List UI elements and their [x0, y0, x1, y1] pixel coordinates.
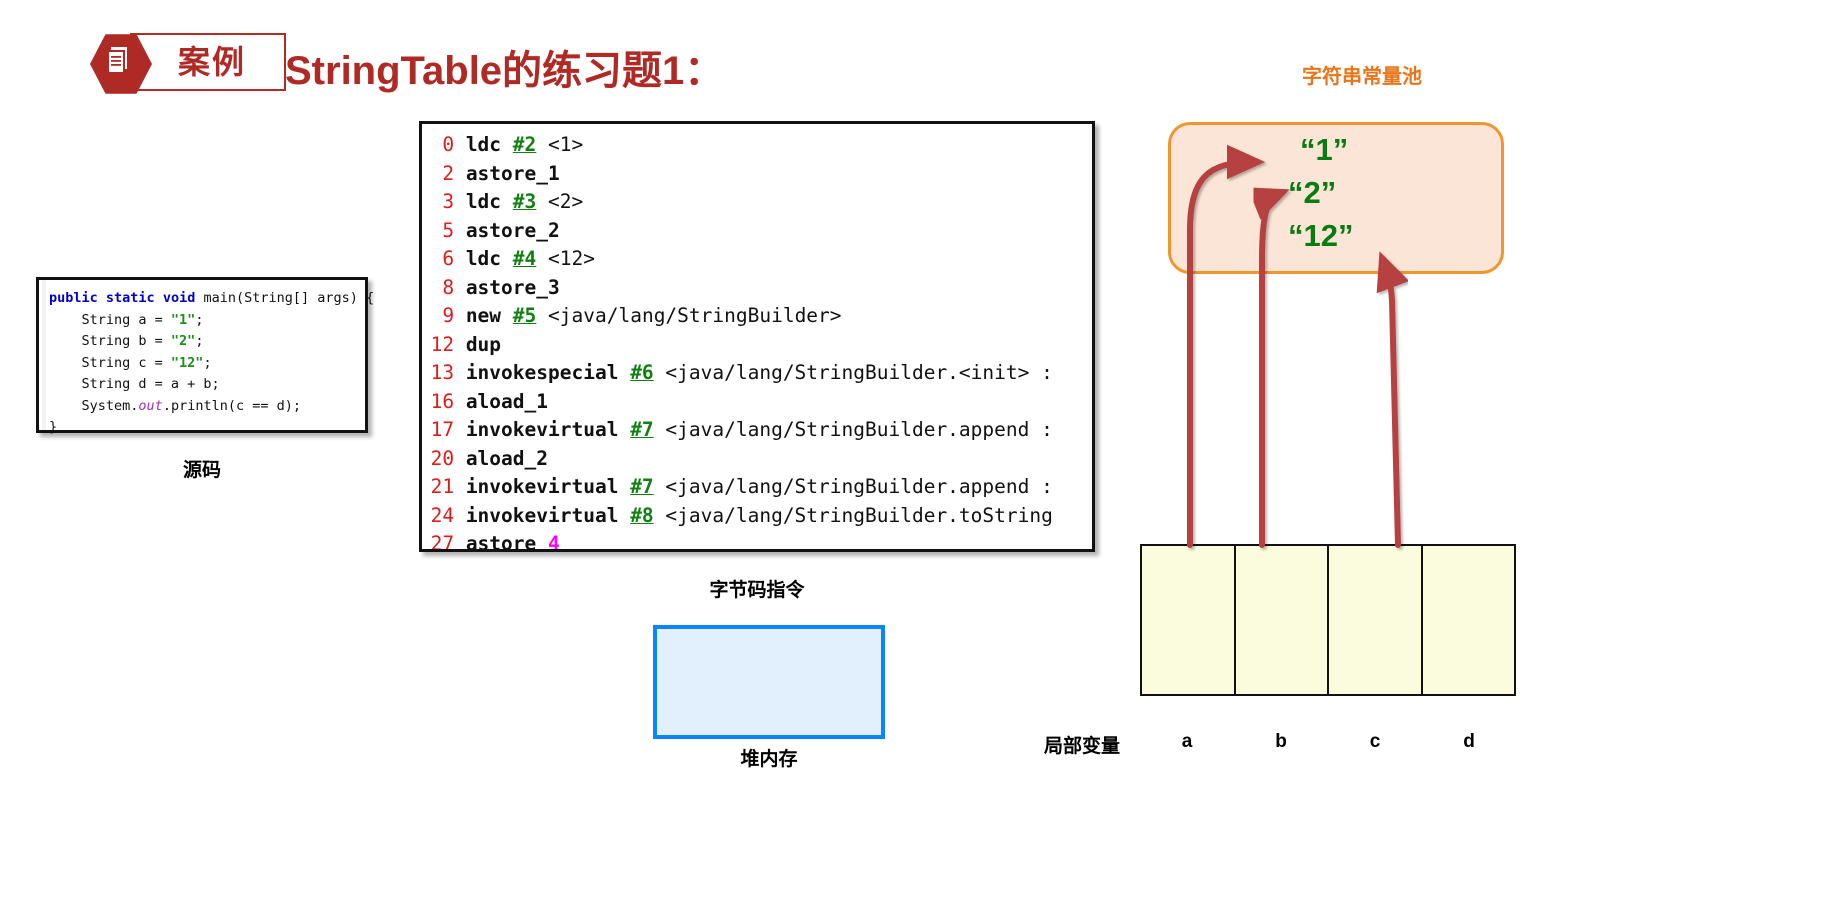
bytecode-line: 0 ldc #2 <1>: [430, 131, 1053, 160]
bytecode-line: 20 aload_2: [430, 445, 1053, 474]
heap-memory-box: [653, 625, 885, 739]
bytecode-offset: 3: [430, 188, 454, 217]
constant-pool-ref[interactable]: #6: [630, 361, 653, 384]
bytecode-offset: 8: [430, 274, 454, 303]
source-token: ;: [195, 312, 203, 328]
bytecode-offset: 20: [430, 445, 454, 474]
bytecode-opcode: dup: [466, 333, 501, 356]
source-token: out: [138, 398, 162, 414]
local-var-slot-c: [1329, 546, 1423, 694]
bytecode-line: 16 aload_1: [430, 388, 1053, 417]
bytecode-offset: 21: [430, 473, 454, 502]
bytecode-line: 13 invokespecial #6 <java/lang/StringBui…: [430, 359, 1053, 388]
source-code-line: String a = "1";: [49, 310, 361, 332]
bytecode-argument: <java/lang/StringBuilder.toString: [665, 504, 1052, 527]
bytecode-offset: 9: [430, 302, 454, 331]
local-var-slot-b: [1236, 546, 1330, 694]
source-token: main(String[] args) {: [195, 290, 374, 306]
bytecode-offset: 24: [430, 502, 454, 531]
local-variable-table: [1140, 544, 1516, 696]
bytecode-opcode: invokevirtual: [466, 418, 619, 441]
constant-pool-ref[interactable]: #2: [513, 133, 536, 156]
case-badge: 案例: [90, 33, 286, 93]
bytecode-argument: <java/lang/StringBuilder>: [548, 304, 842, 327]
bytecode-line: 27 astore 4: [430, 530, 1053, 552]
bytecode-opcode: astore: [466, 532, 536, 552]
bytecode-offset: 16: [430, 388, 454, 417]
pool-string-0: “1”: [1300, 132, 1348, 168]
bytecode-opcode: invokevirtual: [466, 475, 619, 498]
bytecode-offset: 0: [430, 131, 454, 160]
string-pool-title: 字符串常量池: [1192, 60, 1532, 89]
bytecode-opcode: aload_2: [466, 447, 548, 470]
bytecode-opcode: invokespecial: [466, 361, 619, 384]
bytecode-line: 3 ldc #3 <2>: [430, 188, 1053, 217]
bytecode-list: 0 ldc #2 <1>2 astore_13 ldc #3 <2>5 asto…: [430, 131, 1053, 552]
pool-string-2: “12”: [1288, 218, 1353, 254]
badge-label: 案例: [152, 39, 272, 85]
bytecode-argument: <java/lang/StringBuilder.append :: [665, 475, 1052, 498]
bytecode-offset: 27: [430, 530, 454, 552]
bytecode-line: 6 ldc #4 <12>: [430, 245, 1053, 274]
bytecode-line: 8 astore_3: [430, 274, 1053, 303]
bytecode-argument: <java/lang/StringBuilder.<init> :: [665, 361, 1052, 384]
local-var-label-b: b: [1234, 731, 1328, 753]
constant-pool-ref[interactable]: #7: [630, 418, 653, 441]
arrow-c-to-string-12: [1382, 258, 1398, 545]
bytecode-argument: <1>: [548, 133, 583, 156]
source-code-caption: 源码: [36, 455, 368, 482]
bytecode-line: 9 new #5 <java/lang/StringBuilder>: [430, 302, 1053, 331]
source-token: System.: [82, 398, 139, 414]
constant-pool-ref[interactable]: #8: [630, 504, 653, 527]
source-token: "2": [171, 333, 195, 349]
constant-pool-ref[interactable]: #7: [630, 475, 653, 498]
source-code-panel: public static void main(String[] args) {…: [36, 277, 368, 433]
bytecode-offset: 2: [430, 160, 454, 189]
bytecode-line: 2 astore_1: [430, 160, 1053, 189]
source-token: "1": [171, 312, 195, 328]
bytecode-opcode: ldc: [466, 247, 501, 270]
source-token: ;: [203, 355, 211, 371]
local-variable-labels: a b c d: [1140, 731, 1516, 753]
local-variable-caption: 局部变量: [1000, 731, 1120, 758]
source-token: void: [163, 290, 196, 306]
bytecode-opcode: new: [466, 304, 501, 327]
bytecode-offset: 17: [430, 416, 454, 445]
source-code-line: String b = "2";: [49, 331, 361, 353]
bytecode-line: 12 dup: [430, 331, 1053, 360]
source-token: String d = a + b;: [82, 376, 220, 392]
source-code-text: public static void main(String[] args) {…: [49, 288, 361, 439]
bytecode-line: 21 invokevirtual #7 <java/lang/StringBui…: [430, 473, 1053, 502]
bytecode-line: 17 invokevirtual #7 <java/lang/StringBui…: [430, 416, 1053, 445]
bytecode-opcode: ldc: [466, 190, 501, 213]
local-var-label-a: a: [1140, 731, 1234, 753]
bytecode-slot-index: 4: [548, 532, 560, 552]
constant-pool-ref[interactable]: #3: [513, 190, 536, 213]
bytecode-caption: 字节码指令: [419, 575, 1095, 602]
page-title: StringTable的练习题1：: [285, 38, 724, 96]
bytecode-offset: 6: [430, 245, 454, 274]
local-var-slot-a: [1142, 546, 1236, 694]
bytecode-line: 24 invokevirtual #8 <java/lang/StringBui…: [430, 502, 1053, 531]
local-var-label-c: c: [1328, 731, 1422, 753]
bytecode-opcode: invokevirtual: [466, 504, 619, 527]
bytecode-line: 5 astore_2: [430, 217, 1053, 246]
source-token: public: [49, 290, 98, 306]
source-token: ;: [195, 333, 203, 349]
source-token: static: [106, 290, 155, 306]
source-code-line: String c = "12";: [49, 353, 361, 375]
bytecode-argument: <2>: [548, 190, 583, 213]
source-token: String b =: [82, 333, 171, 349]
constant-pool-ref[interactable]: #5: [513, 304, 536, 327]
local-var-slot-d: [1423, 546, 1515, 694]
bytecode-offset: 13: [430, 359, 454, 388]
source-code-line: public static void main(String[] args) {: [49, 288, 361, 310]
bytecode-offset: 12: [430, 331, 454, 360]
source-token: String c =: [82, 355, 171, 371]
bytecode-argument: <12>: [548, 247, 595, 270]
source-code-line: System.out.println(c == d);: [49, 396, 361, 418]
source-token: String a =: [82, 312, 171, 328]
heap-memory-caption: 堆内存: [653, 744, 885, 771]
bytecode-opcode: ldc: [466, 133, 501, 156]
bytecode-panel: 0 ldc #2 <1>2 astore_13 ldc #3 <2>5 asto…: [419, 121, 1095, 552]
source-token: }: [49, 419, 57, 435]
source-gutter: [42, 280, 46, 430]
local-var-label-d: d: [1422, 731, 1516, 753]
bytecode-opcode: astore_1: [466, 162, 560, 185]
bytecode-offset: 5: [430, 217, 454, 246]
constant-pool-ref[interactable]: #4: [513, 247, 536, 270]
source-token: .println(c == d);: [163, 398, 301, 414]
pool-string-1: “2”: [1288, 175, 1336, 211]
source-token: "12": [171, 355, 204, 371]
bytecode-opcode: astore_3: [466, 276, 560, 299]
source-code-line: String d = a + b;: [49, 374, 361, 396]
source-token: [155, 290, 163, 306]
bytecode-opcode: astore_2: [466, 219, 560, 242]
source-code-line: }: [49, 417, 361, 439]
bytecode-opcode: aload_1: [466, 390, 548, 413]
bytecode-argument: <java/lang/StringBuilder.append :: [665, 418, 1052, 441]
header: 案例 StringTable的练习题1：: [0, 0, 1828, 120]
source-token: [98, 290, 106, 306]
document-icon-glyph: [106, 47, 132, 79]
